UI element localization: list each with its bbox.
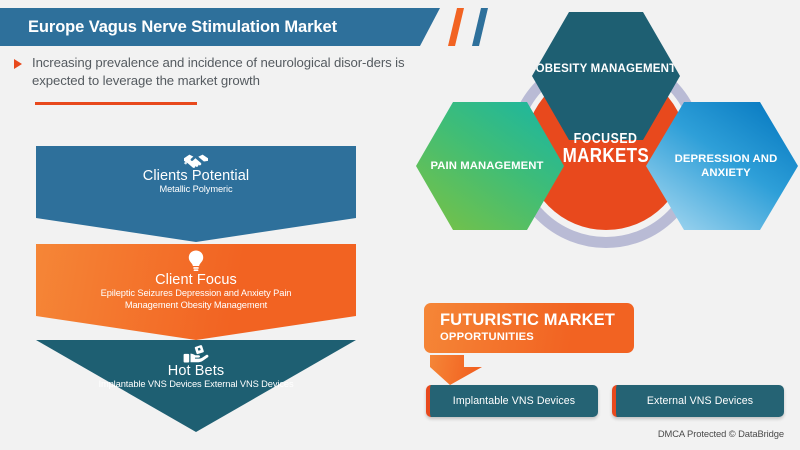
key-insight-text: Increasing prevalence and incidence of n… — [32, 54, 414, 90]
focused-markets-line2: MARKETS — [563, 145, 649, 168]
key-insight-bullet: Increasing prevalence and incidence of n… — [14, 54, 414, 90]
funnel-segment-clients-potential: Clients Potential Metallic Polymeric — [36, 146, 356, 242]
funnel-segment-client-focus: Client Focus Epileptic Seizures Depressi… — [36, 244, 356, 340]
funnel-segment-title: Client Focus — [36, 272, 356, 288]
handshake-icon — [183, 152, 209, 168]
funnel-diagram: Clients Potential Metallic Polymeric Cli… — [0, 140, 400, 430]
page-title: Europe Vagus Nerve Stimulation Market — [28, 8, 337, 46]
arrow-down-icon — [430, 355, 482, 385]
arrow-down-shape — [430, 355, 482, 385]
device-card-label: External VNS Devices — [647, 395, 753, 407]
triangle-bullet-icon — [14, 59, 22, 69]
device-card-external[interactable]: External VNS Devices — [612, 385, 784, 417]
funnel-segment-hot-bets: Hot Bets Implantable VNS Devices Externa… — [36, 340, 356, 432]
futuristic-market-banner: FUTURISTIC MARKET OPPORTUNITIES — [424, 303, 634, 353]
funnel-segment-content: Hot Bets Implantable VNS Devices Externa… — [36, 340, 356, 391]
focused-markets-label: FOCUSED MARKETS — [525, 68, 687, 230]
funnel-segment-subtitle: Epileptic Seizures Depression and Anxiet… — [36, 288, 356, 311]
funnel-segment-content: Clients Potential Metallic Polymeric — [36, 146, 356, 196]
slide-canvas: Europe Vagus Nerve Stimulation Market In… — [0, 0, 800, 450]
device-card-implantable[interactable]: Implantable VNS Devices — [426, 385, 598, 417]
lightbulb-icon — [187, 250, 205, 272]
hand-money-icon — [183, 345, 209, 363]
futuristic-market-title: FUTURISTIC MARKET — [440, 311, 634, 330]
funnel-segment-title: Clients Potential — [36, 168, 356, 184]
device-card-label: Implantable VNS Devices — [453, 395, 575, 407]
focused-markets-diagram: OBESITY MANAGEMENT PAIN MANAGEMENT DEPRE… — [408, 10, 800, 295]
funnel-segment-content: Client Focus Epileptic Seizures Depressi… — [36, 244, 356, 311]
funnel-segment-subtitle: Metallic Polymeric — [36, 184, 356, 196]
copyright-footer: DMCA Protected © DataBridge — [658, 428, 784, 439]
orange-divider-rule — [35, 102, 197, 105]
funnel-segment-title: Hot Bets — [36, 363, 356, 379]
futuristic-market-subtitle: OPPORTUNITIES — [440, 330, 634, 344]
funnel-segment-subtitle: Implantable VNS Devices External VNS Dev… — [36, 379, 356, 391]
